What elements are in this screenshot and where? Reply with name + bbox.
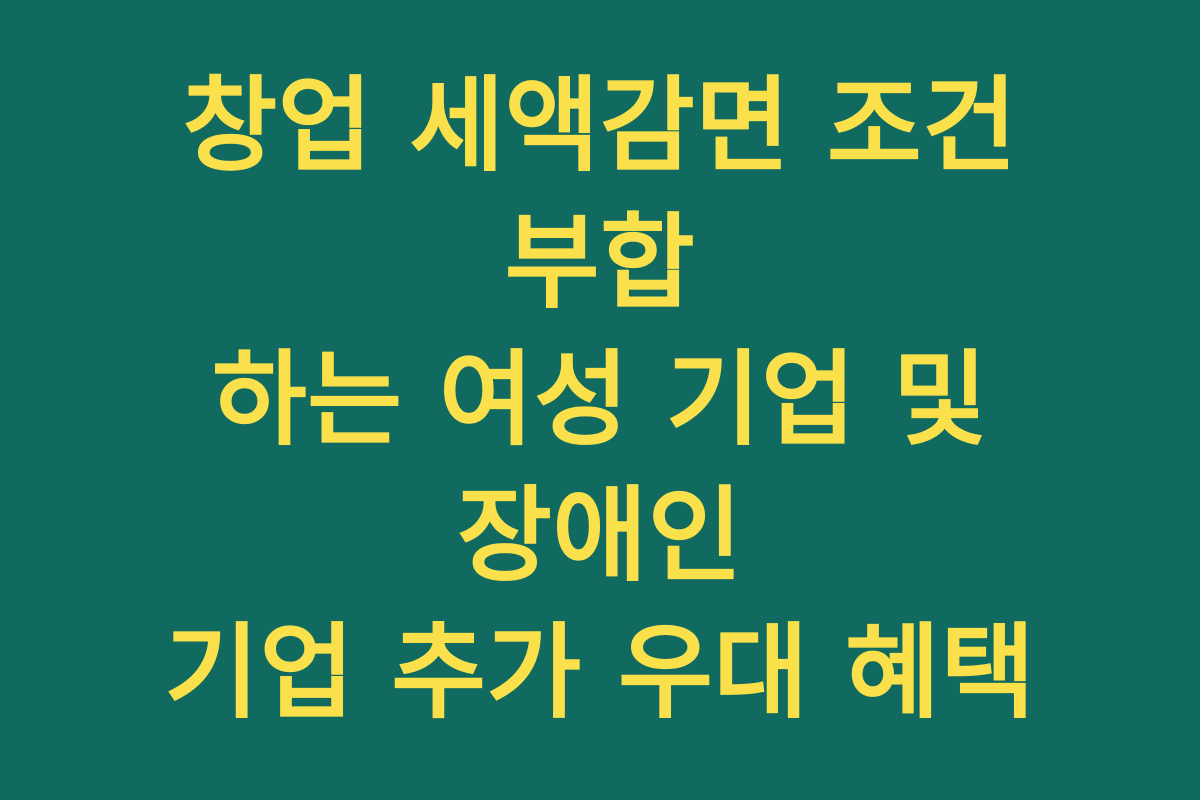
headline-block: 창업 세액감면 조건 부합 하는 여성 기업 및 장애인 기업 추가 우대 혜택	[50, 58, 1150, 743]
promo-banner: 창업 세액감면 조건 부합 하는 여성 기업 및 장애인 기업 추가 우대 혜택	[0, 0, 1200, 800]
banner-headline: 창업 세액감면 조건 부합 하는 여성 기업 및 장애인 기업 추가 우대 혜택	[90, 58, 1110, 743]
